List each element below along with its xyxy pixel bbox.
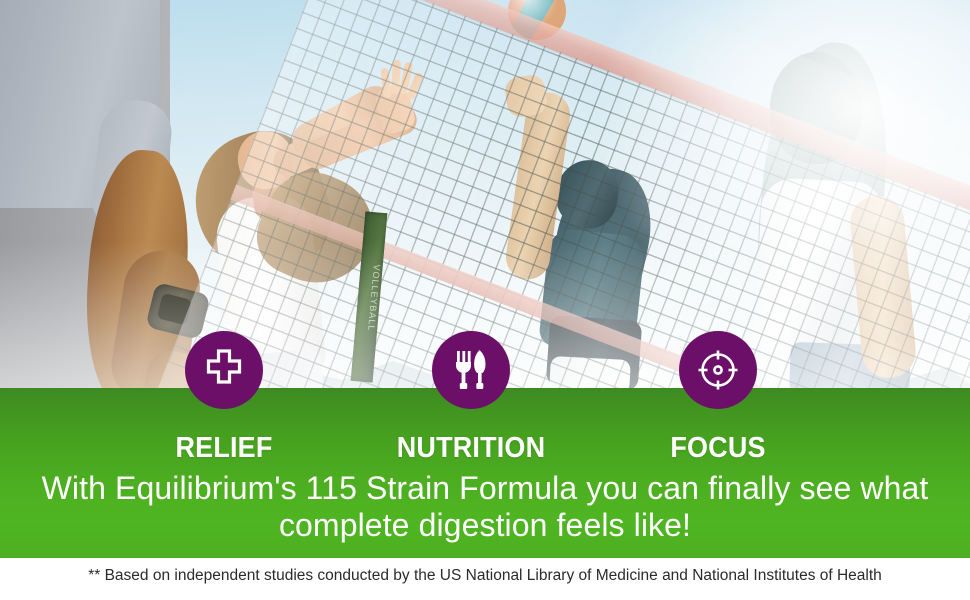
footnote-disclaimer: ** Based on independent studies conducte… [0, 566, 970, 586]
promo-banner: VOLLEYBALL [0, 0, 970, 600]
fork-and-knife-icon [450, 347, 492, 393]
headline-line-2: complete digestion feels like! [0, 507, 970, 544]
feature-badge-relief[interactable] [185, 331, 263, 409]
feature-badge-nutrition[interactable] [432, 331, 510, 409]
target-crosshair-icon [694, 346, 742, 394]
feature-badge-focus[interactable] [679, 331, 757, 409]
headline: With Equilibrium's 115 Strain Formula yo… [0, 470, 970, 544]
feature-label-relief: RELIEF [112, 432, 335, 465]
medical-cross-icon [202, 348, 246, 392]
feature-label-focus: FOCUS [606, 432, 829, 465]
feature-label-nutrition: NUTRITION [359, 432, 582, 465]
headline-line-1: With Equilibrium's 115 Strain Formula yo… [0, 470, 970, 507]
